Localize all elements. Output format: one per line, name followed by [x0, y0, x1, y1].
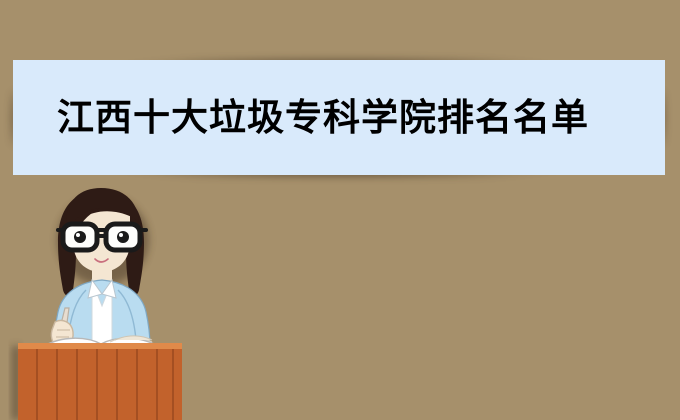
teacher-illustration: [0, 180, 250, 420]
page-title: 江西十大垃圾专科学院排名名单: [57, 99, 589, 136]
podium-desk: [18, 343, 182, 420]
screenshot-canvas: 江西十大垃圾专科学院排名名单: [0, 0, 680, 420]
title-banner: 江西十大垃圾专科学院排名名单: [13, 60, 665, 175]
